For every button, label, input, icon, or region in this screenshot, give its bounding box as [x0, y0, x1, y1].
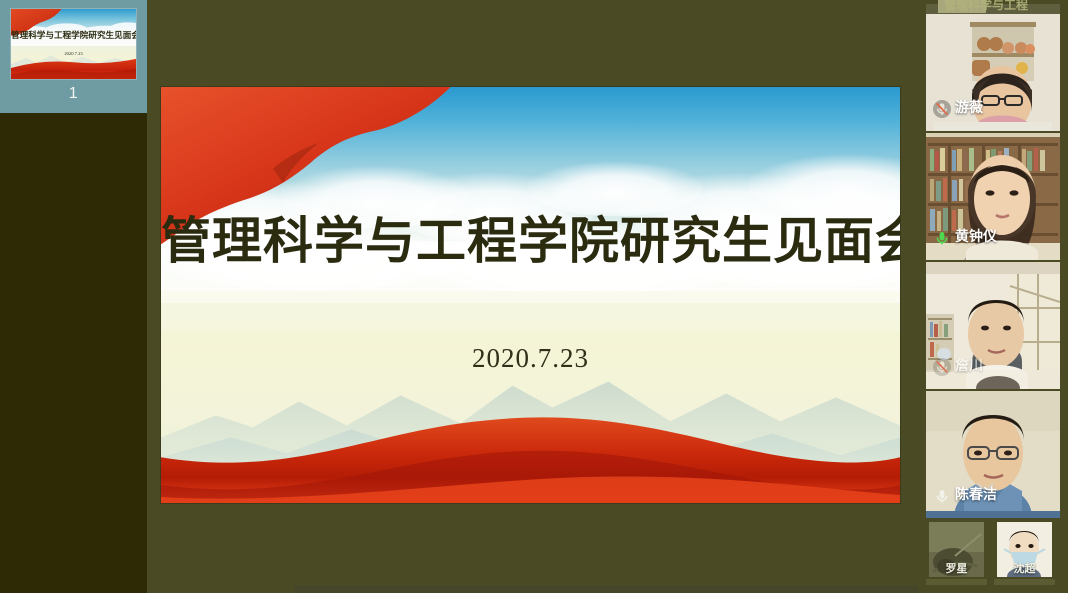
- slide-title: 管理科学与工程学院研究生见面会: [161, 201, 900, 273]
- participant-video-rail[interactable]: 游薇: [918, 0, 1068, 593]
- thumbnail-slide-title: 管理科学与工程学院研究生见面会: [11, 29, 136, 41]
- thumbnail-preview[interactable]: 管理科学与工程学院研究生见面会 2020.7.23: [10, 8, 137, 80]
- thumbnail-number: 1: [10, 80, 137, 108]
- thumbnail-slide-date: 2020.7.23: [11, 51, 136, 56]
- participant-name: 沈超: [994, 560, 1055, 576]
- microphone-muted-icon[interactable]: [932, 357, 952, 377]
- participant-name: 陈春洁: [955, 484, 997, 504]
- small-tile-footer: [994, 579, 1055, 585]
- participant-tile[interactable]: 黄钟仪: [926, 133, 1060, 260]
- participant-small-tiles-row[interactable]: 罗星 沈超: [918, 510, 1068, 593]
- thumbnail-item-1[interactable]: 管理科学与工程学院研究生见面会 2020.7.23 1: [0, 0, 147, 113]
- thumbnail-slide-art: [11, 9, 136, 79]
- slide-thumbnail-rail[interactable]: 管理科学与工程学院研究生见面会 2020.7.23 1: [0, 0, 147, 593]
- microphone-muted-icon[interactable]: [932, 99, 952, 119]
- microphone-active-icon[interactable]: [932, 228, 952, 248]
- participant-name: 游薇: [955, 97, 983, 117]
- participant-name: 黄钟仪: [955, 226, 997, 246]
- participant-small-tile[interactable]: 罗星: [926, 518, 987, 585]
- thumbnail-slide-render: 管理科学与工程学院研究生见面会 2020.7.23: [11, 9, 136, 79]
- current-slide[interactable]: 管理科学与工程学院研究生见面会 2020.7.23: [160, 86, 901, 504]
- meeting-screen-share-window: 管理科学与工程学院研究生见面会 2020.7.23 1: [0, 0, 1068, 593]
- participant-tile[interactable]: 詹川: [926, 262, 1060, 389]
- participant-small-tile[interactable]: 沈超: [994, 518, 1055, 585]
- participant-tile[interactable]: 陈春洁: [926, 391, 1060, 518]
- participant-name: 罗星: [926, 560, 987, 576]
- microphone-muted-icon[interactable]: [932, 486, 952, 506]
- window-title: 管理科学与工程: [944, 0, 1068, 14]
- presentation-stage: 管理科学与工程学院研究生见面会 2020.7.23: [147, 0, 918, 593]
- small-tile-footer: [926, 579, 987, 585]
- slide-artwork: [161, 87, 900, 503]
- slide-date: 2020.7.23: [161, 343, 900, 374]
- participant-tile[interactable]: 游薇: [926, 4, 1060, 131]
- participant-name: 詹川: [955, 355, 983, 375]
